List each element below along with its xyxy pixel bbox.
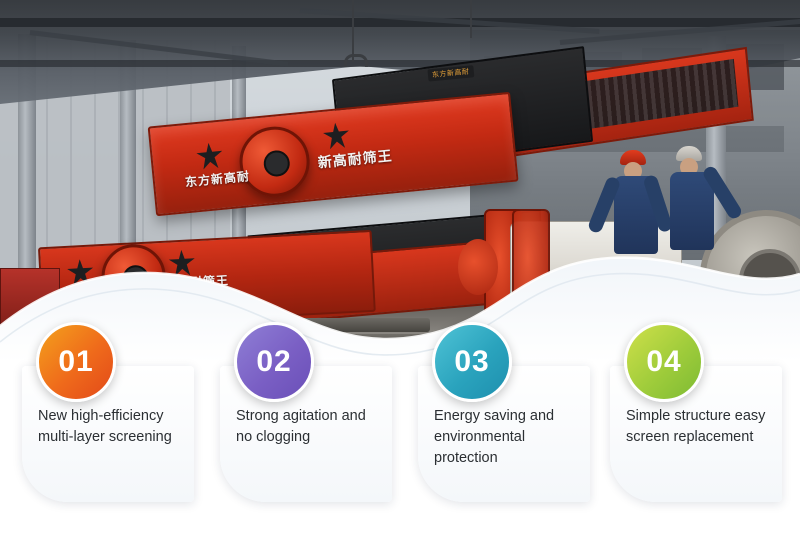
- feature-text-3: Energy saving and environmental protecti…: [434, 406, 582, 469]
- screenshot-root: 东方新高耐 新高耐筛王 东方新高耐 新高耐筛王 东方新: [0, 0, 800, 560]
- feature-card-4[interactable]: 04 Simple structure easy screen replacem…: [610, 366, 782, 502]
- lifting-chain: [352, 0, 354, 62]
- feature-text-4: Simple structure easy screen replacement: [626, 406, 774, 448]
- feature-card-2[interactable]: 02 Strong agitation and no clogging: [220, 366, 392, 502]
- worker-torso: [670, 172, 714, 250]
- lifting-chain: [470, 0, 472, 38]
- feature-text-1: New high-efficiency multi-layer screenin…: [38, 406, 186, 448]
- feature-card-1[interactable]: 01 New high-efficiency multi-layer scree…: [22, 366, 194, 502]
- feature-card-3[interactable]: 03 Energy saving and environmental prote…: [418, 366, 590, 502]
- feature-card-list: 01 New high-efficiency multi-layer scree…: [0, 310, 800, 560]
- feature-number-badge-3: 03: [432, 322, 512, 402]
- feature-number-badge-2: 02: [234, 322, 314, 402]
- feature-number-badge-1: 01: [36, 322, 116, 402]
- mill-end-cap: [458, 239, 498, 295]
- feature-text-2: Strong agitation and no clogging: [236, 406, 384, 448]
- feature-number-badge-4: 04: [624, 322, 704, 402]
